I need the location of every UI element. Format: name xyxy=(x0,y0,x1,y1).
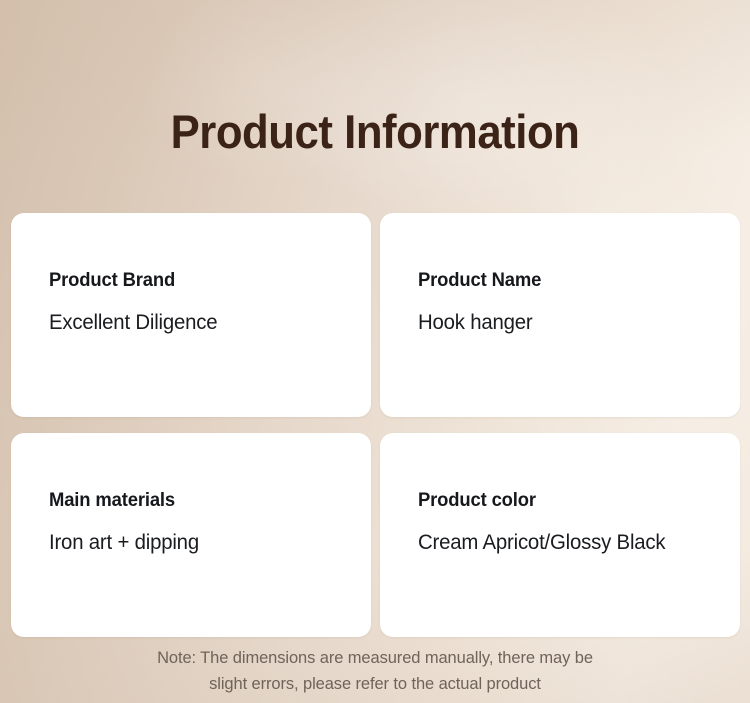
disclaimer-note-line-2: slight errors, please refer to the actua… xyxy=(0,671,750,697)
spec-value-product-color: Cream Apricot/Glossy Black xyxy=(418,530,715,556)
disclaimer-note-line-1: Note: The dimensions are measured manual… xyxy=(0,645,750,671)
spec-card-content: Product Name Hook hanger xyxy=(418,269,724,336)
product-information-page: Product Information Product Brand Excell… xyxy=(0,0,750,703)
spec-card-content: Main materials Iron art + dipping xyxy=(49,489,355,556)
spec-card-grid: Product Brand Excellent Diligence Produc… xyxy=(11,213,740,637)
disclaimer-note: Note: The dimensions are measured manual… xyxy=(0,645,750,697)
spec-value-product-name: Hook hanger xyxy=(418,310,715,336)
spec-card-main-materials: Main materials Iron art + dipping xyxy=(11,433,371,637)
spec-card-product-brand: Product Brand Excellent Diligence xyxy=(11,213,371,417)
spec-label-product-color: Product color xyxy=(418,489,715,513)
page-title: Product Information xyxy=(26,104,724,160)
spec-label-product-brand: Product Brand xyxy=(49,269,346,293)
spec-card-product-color: Product color Cream Apricot/Glossy Black xyxy=(380,433,740,637)
spec-value-product-brand: Excellent Diligence xyxy=(49,310,346,336)
spec-card-product-name: Product Name Hook hanger xyxy=(380,213,740,417)
spec-label-product-name: Product Name xyxy=(418,269,715,293)
spec-card-content: Product color Cream Apricot/Glossy Black xyxy=(418,489,724,556)
spec-card-content: Product Brand Excellent Diligence xyxy=(49,269,355,336)
spec-value-main-materials: Iron art + dipping xyxy=(49,530,346,556)
spec-label-main-materials: Main materials xyxy=(49,489,346,513)
